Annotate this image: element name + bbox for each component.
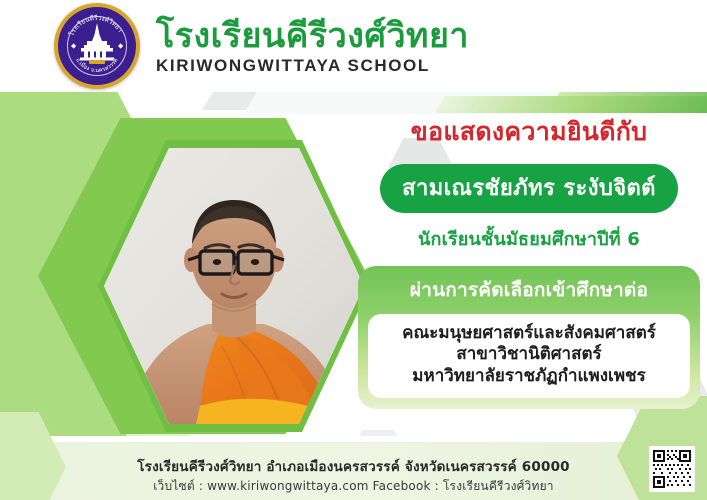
school-title-english: KIRIWONGWITTAYA SCHOOL	[156, 57, 469, 74]
admission-title: ผ่านการคัดเลือกเข้าศึกษาต่อ	[368, 275, 690, 305]
student-grade-label: นักเรียนชั้นมัธยมศึกษาปีที่ 6	[358, 224, 700, 253]
school-seal-icon: โรงเรียนคีรีวงศ์วิทยา อ.เมือง จ.นครสวรรค…	[54, 3, 140, 89]
school-title-thai: โรงเรียนคีรีวงศ์วิทยา	[156, 19, 469, 53]
admission-card: ผ่านการคัดเลือกเข้าศึกษาต่อ คณะมนุษยศาสต…	[358, 266, 700, 409]
congratulations-heading: ขอแสดงความยินดีกับ	[358, 112, 700, 152]
faculty-line-2: สาขาวิชานิติศาสตร์	[376, 344, 682, 365]
footer-web-social: เว็บไซต์ : www.kiriwongwittaya.com Faceb…	[0, 478, 707, 494]
faculty-line-3: มหาวิทยาลัยราชภัฏกำแพงเพชร	[376, 366, 682, 387]
faculty-line-1: คณะมนุษยศาสตร์และสังคมศาสตร์	[376, 323, 682, 344]
qr-code-icon[interactable]	[649, 446, 695, 492]
faculty-box: คณะมนุษยศาสตร์และสังคมศาสตร์ สาขาวิชานิต…	[368, 314, 690, 398]
footer-contact: โรงเรียนคีรีวงศ์วิทยา อำเภอเมืองนครสวรรค…	[0, 458, 707, 494]
student-name-badge: สามเณรชัยภัทร ระงับจิตต์	[380, 164, 678, 213]
poster-header: โรงเรียนคีรีวงศ์วิทยา อ.เมือง จ.นครสวรรค…	[0, 0, 707, 92]
footer-address: โรงเรียนคีรีวงศ์วิทยา อำเภอเมืองนครสวรรค…	[0, 458, 707, 476]
certificate-poster: โรงเรียนคีรีวงศ์วิทยา อ.เมือง จ.นครสวรรค…	[0, 0, 707, 500]
congratulation-content: ขอแสดงความยินดีกับ สามเณรชัยภัทร ระงับจิ…	[358, 104, 700, 409]
school-titles: โรงเรียนคีรีวงศ์วิทยา KIRIWONGWITTAYA SC…	[156, 19, 469, 74]
